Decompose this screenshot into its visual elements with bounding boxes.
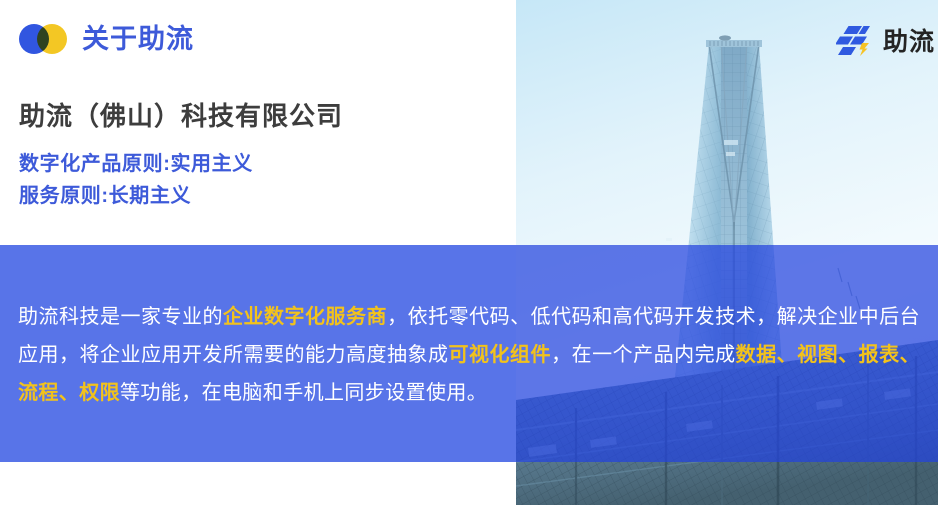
zhuliu-bolt-icon xyxy=(836,22,876,62)
description-highlight: 可视化组件 xyxy=(449,344,552,366)
principle-item: 服务原则:长期主义 xyxy=(19,180,253,212)
description-text: 助流科技是一家专业的 xyxy=(18,306,223,328)
overlapping-circles-logo-icon xyxy=(19,24,71,54)
description-band: 助流科技是一家专业的企业数字化服务商，依托零代码、低代码和高代码开发技术，解决企… xyxy=(0,245,938,462)
principles-list: 数字化产品原则:实用主义 服务原则:长期主义 xyxy=(19,148,253,212)
about-slide: 关于助流 助流（佛山）科技有限公司 数字化产品原则:实用主义 服务原则:长期主义… xyxy=(0,0,938,505)
product-logo-text: 助流 xyxy=(883,28,935,56)
description-text: 等功能，在电脑和手机上同步设置使用。 xyxy=(120,382,487,404)
brand-header: 关于助流 xyxy=(19,19,194,59)
company-description: 助流科技是一家专业的企业数字化服务商，依托零代码、低代码和高代码开发技术，解决企… xyxy=(18,298,920,412)
description-text: ，在一个产品内完成 xyxy=(551,344,736,366)
description-highlight: 企业数字化服务商 xyxy=(223,306,387,328)
product-logo: 助流 xyxy=(836,20,935,64)
company-name: 助流（佛山）科技有限公司 xyxy=(19,96,343,133)
bottom-white-strip xyxy=(0,462,516,505)
principle-item: 数字化产品原则:实用主义 xyxy=(19,148,253,180)
page-title: 关于助流 xyxy=(82,24,194,54)
